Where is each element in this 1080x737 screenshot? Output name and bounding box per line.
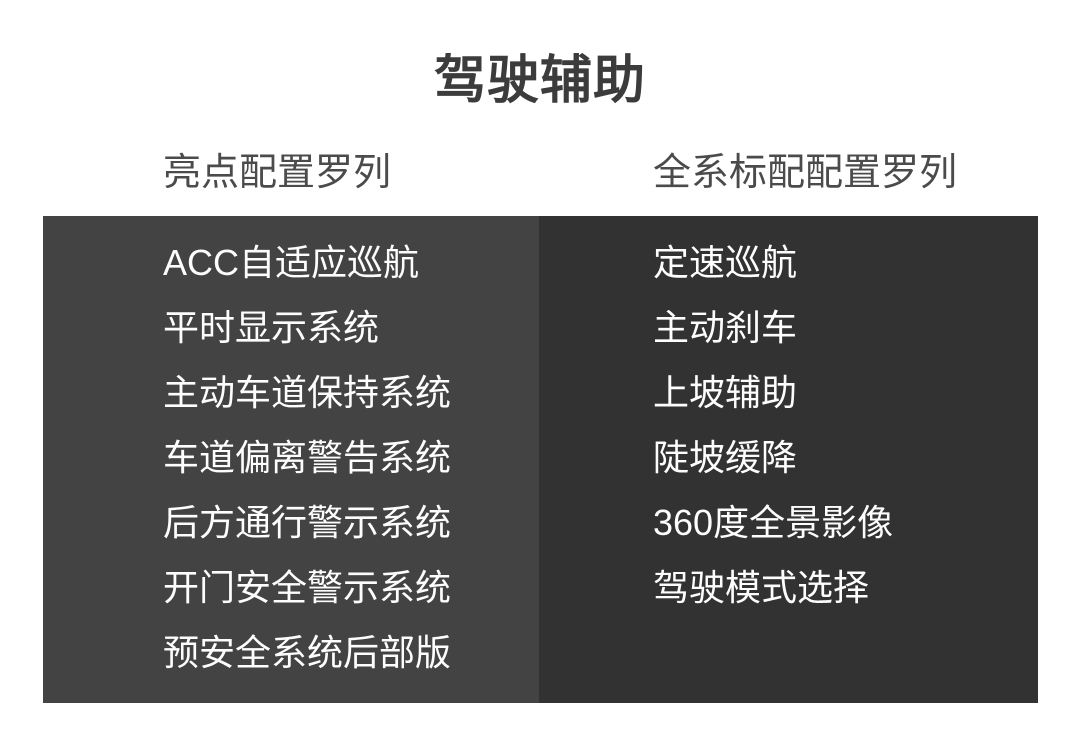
list-item: 后方通行警示系统 (163, 490, 451, 555)
list-item: 陡坡缓降 (653, 425, 893, 490)
list-item: 上坡辅助 (653, 360, 893, 425)
list-item: 主动车道保持系统 (163, 360, 451, 425)
config-column-highlight: ACC自适应巡航 平时显示系统 主动车道保持系统 车道偏离警告系统 后方通行警示… (43, 216, 539, 703)
config-list-highlight: ACC自适应巡航 平时显示系统 主动车道保持系统 车道偏离警告系统 后方通行警示… (163, 230, 451, 685)
page-root: 驾驶辅助 亮点配置罗列 全系标配配置罗列 ACC自适应巡航 平时显示系统 主动车… (0, 0, 1080, 737)
list-item: 定速巡航 (653, 230, 893, 295)
list-item: 预安全系统后部版 (163, 620, 451, 685)
column-header-highlight: 亮点配置罗列 (163, 150, 391, 196)
list-item: 主动刹车 (653, 295, 893, 360)
list-item: 驾驶模式选择 (653, 555, 893, 620)
list-item: ACC自适应巡航 (163, 230, 451, 295)
config-list-standard: 定速巡航 主动刹车 上坡辅助 陡坡缓降 360度全景影像 驾驶模式选择 (653, 230, 893, 620)
page-title: 驾驶辅助 (0, 52, 1080, 110)
config-column-standard: 定速巡航 主动刹车 上坡辅助 陡坡缓降 360度全景影像 驾驶模式选择 (539, 216, 1038, 703)
list-item: 平时显示系统 (163, 295, 451, 360)
list-item: 车道偏离警告系统 (163, 425, 451, 490)
config-table-panel: ACC自适应巡航 平时显示系统 主动车道保持系统 车道偏离警告系统 后方通行警示… (43, 216, 1038, 703)
list-item: 开门安全警示系统 (163, 555, 451, 620)
column-header-standard: 全系标配配置罗列 (653, 150, 957, 196)
list-item: 360度全景影像 (653, 490, 893, 555)
